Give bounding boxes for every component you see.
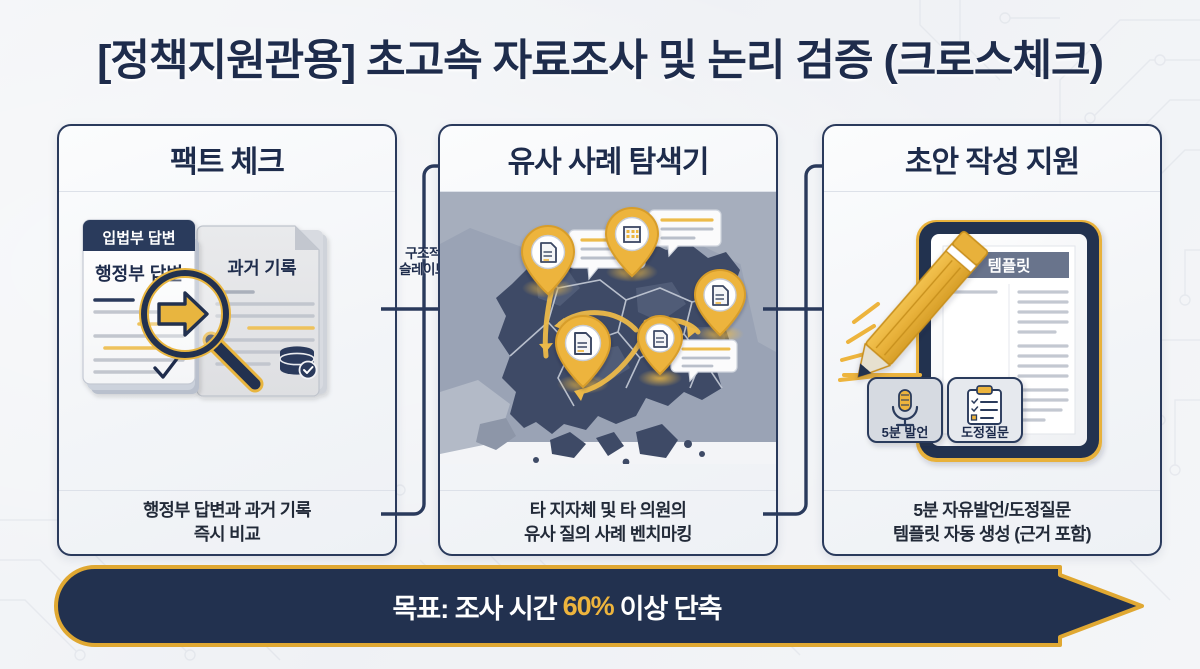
document-icon [713, 286, 728, 305]
page-title: [정책지원관용] 초고속 자료조사 및 논리 검증 (크로스체크) [0, 26, 1200, 88]
panel-draft-assist-art: 템플릿 [824, 192, 1160, 490]
draft-assist-illustration: 템플릿 [824, 192, 1160, 490]
document-icon [654, 331, 667, 347]
goal-banner-text: 목표: 조사 시간 60% 이상 단축 [52, 563, 1062, 649]
caption-line-2: 유사 질의 사례 벤치마킹 [524, 524, 692, 546]
caption-line-1: 행정부 답변과 과거 기록 [143, 500, 311, 522]
panel-fact-check-header: 팩트 체크 [59, 126, 395, 192]
panel-draft-assist-caption: 5분 자유발언/도정질문 템플릿 자동 생성 (근거 포함) [824, 490, 1160, 553]
caption-line-2: 즉시 비교 [194, 524, 260, 546]
panel-draft-assist: 초안 작성 지원 [822, 124, 1162, 556]
building-icon [624, 227, 640, 242]
panel-fact-check-caption: 행정부 답변과 과거 기록 즉시 비교 [59, 490, 395, 553]
panel-case-explorer-caption: 타 지자체 및 타 의원의 유사 질의 사례 벤치마킹 [440, 490, 776, 553]
south-korea-map [440, 192, 776, 490]
caption-line-1: 타 지자체 및 타 의원의 [530, 500, 687, 522]
button-provincial-question[interactable]: 도정질문 [948, 378, 1022, 442]
template-doc-label: 템플릿 [988, 256, 1031, 275]
document-icon [541, 243, 556, 262]
panel-case-explorer-art [440, 192, 776, 490]
clipboard-check-icon [968, 386, 1001, 424]
button-5min-speech[interactable]: 5분 발언 [868, 378, 942, 442]
button-5min-speech-label: 5분 발언 [882, 425, 929, 440]
past-record-label: 과거 기록 [227, 258, 296, 278]
goal-banner: 목표: 조사 시간 60% 이상 단축 [52, 563, 1150, 649]
panel-draft-assist-header: 초안 작성 지원 [824, 126, 1160, 192]
legislature-answer-label: 입법부 답변 [102, 229, 175, 247]
panel-case-explorer-header: 유사 사례 탐색기 [440, 126, 776, 192]
caption-line-1: 5분 자유발언/도정질문 [913, 500, 1070, 522]
panel-fact-check-art: 과거 기록 [59, 192, 395, 490]
panel-case-explorer: 유사 사례 탐색기 [438, 124, 778, 556]
panel-fact-check: 팩트 체크 [57, 124, 397, 556]
document-icon [575, 333, 591, 354]
goal-prefix: 목표: 조사 시간 [393, 587, 557, 626]
caption-line-2: 템플릿 자동 생성 (근거 포함) [893, 524, 1091, 546]
fact-check-illustration: 과거 기록 [59, 192, 395, 490]
goal-highlight: 60% [557, 591, 620, 622]
button-provincial-question-label: 도정질문 [961, 425, 1009, 440]
goal-suffix: 이상 단축 [620, 587, 722, 626]
